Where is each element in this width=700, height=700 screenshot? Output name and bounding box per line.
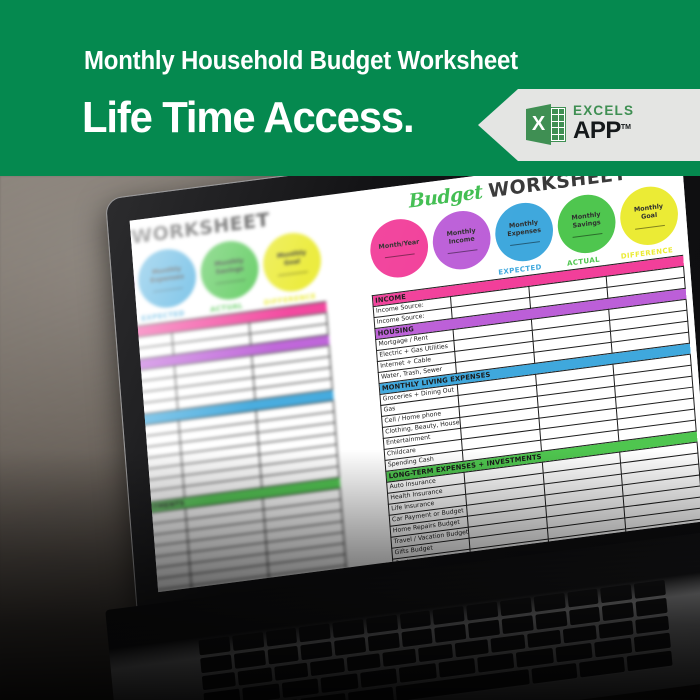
worksheet-circle-4: MonthlyGoal (618, 183, 680, 248)
logo-trademark: TM (621, 124, 631, 131)
worksheet-header-spacer (130, 316, 132, 339)
worksheet-circle-4: MonthlyGoal (261, 230, 323, 295)
logo-plate: X EXCELS APPTM (478, 89, 700, 161)
worksheet-circle-write-line (385, 253, 415, 258)
excel-icon-grid (550, 107, 566, 142)
promo-banner: Monthly Household Budget Worksheet Life … (0, 0, 700, 176)
worksheet-circle-0: Month/Year (368, 216, 430, 281)
worksheet-circle-write-line (278, 271, 308, 276)
promo-title: Monthly Household Budget Worksheet (84, 47, 592, 76)
worksheet-circle-3: MonthlySavings (199, 238, 261, 303)
excel-icon-letter: X (526, 104, 551, 145)
logo-word-app: APPTM (573, 119, 634, 143)
logo-word-excels: EXCELS (573, 104, 634, 118)
worksheet-circle-write-line (153, 287, 183, 292)
excels-app-logo: X EXCELS APPTM (526, 102, 634, 147)
worksheet-circle-write-line (216, 279, 246, 284)
scene-shadow (0, 450, 700, 700)
worksheet-circle-2: MonthlyExpenses (136, 246, 198, 311)
worksheet-circle-1: MonthlyIncome (431, 207, 493, 272)
promo-subtitle: Life Time Access. (82, 92, 413, 144)
worksheet-circle-3: MonthlySavings (556, 191, 618, 256)
worksheet-circle-label-2: Goal (641, 211, 658, 221)
worksheet-circle-1: MonthlyIncome (130, 254, 136, 319)
worksheet-circle-write-line (573, 233, 603, 238)
logo-wordmark: EXCELS APPTM (573, 104, 634, 145)
worksheet-circle-2: MonthlyExpenses (493, 199, 555, 264)
photo-scene: BudgetWORKSHEETMonth/YearMonthlyIncomeMo… (0, 176, 700, 700)
worksheet-circle-write-line (635, 225, 665, 230)
excel-spreadsheet-icon: X (526, 102, 566, 147)
worksheet-circle-label-2: Goal (284, 257, 301, 267)
worksheet-circle-write-line (510, 241, 540, 246)
logo-word-app-text: APP (573, 117, 621, 144)
worksheet-circle-label: Month/Year (378, 238, 419, 251)
worksheet-circle-write-line (448, 249, 478, 254)
